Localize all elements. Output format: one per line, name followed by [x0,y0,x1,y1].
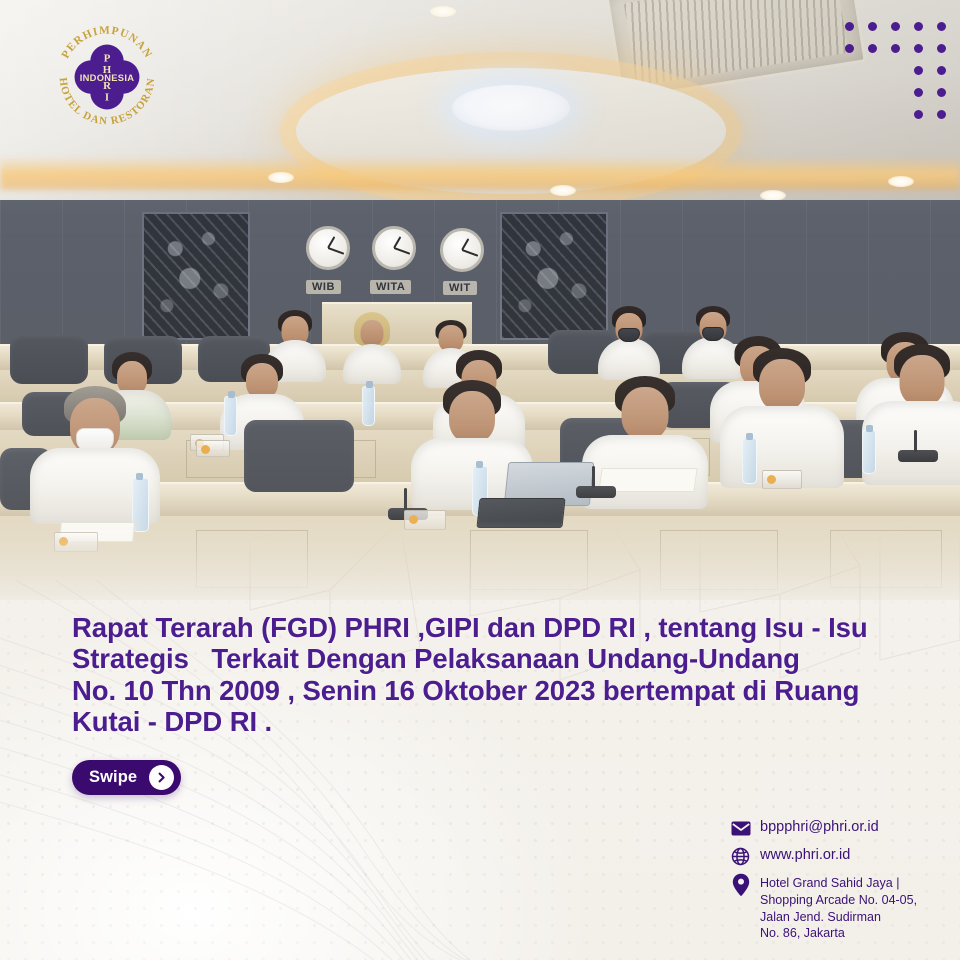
dot-grid-dot [937,110,946,119]
website-text: www.phri.or.id [760,846,850,865]
dot-grid-dot [914,22,923,31]
address-line: Hotel Grand Sahid Jaya | [760,876,899,890]
address-line: Jalan Jend. Sudirman [760,910,881,924]
dot-grid-dot [868,44,877,53]
dot-grid-dot [937,66,946,75]
dot-grid-dot [891,44,900,53]
contact-block: bppphri@phri.or.id www.phri.or.id [730,818,952,949]
headline-line: Kutai - DPD RI . [72,706,902,737]
dot-grid-dot [937,44,946,53]
dot-grid-dot [914,66,923,75]
globe-icon [730,846,751,867]
page-title: Rapat Terarah (FGD) PHRI ,GIPI dan DPD R… [72,612,902,737]
logo-letter-i: I [105,92,109,104]
headline-line: No. 10 Thn 2009 , Senin 16 Oktober 2023 … [72,675,902,706]
dot-grid-dot [868,22,877,31]
headline-line: Rapat Terarah (FGD) PHRI ,GIPI dan DPD R… [72,612,902,643]
dot-grid-dot [937,22,946,31]
contact-address-row: Hotel Grand Sahid Jaya | Shopping Arcade… [730,874,952,942]
email-text: bppphri@phri.or.id [760,818,879,837]
swipe-button[interactable]: Swipe [72,760,181,795]
phri-logo: PERHIMPUNAN HOTEL DAN RESTORAN P H R I I… [48,18,166,136]
logo-center-text: INDONESIA [80,73,134,83]
dot-grid-dot [914,44,923,53]
social-media-card: WIB WITA WIT [0,0,960,960]
email-icon [730,818,751,839]
dot-grid-dot [914,110,923,119]
dot-grid-dot [914,88,923,97]
dot-grid-dot [845,44,854,53]
headline-line: Strategis Terkait Dengan Pelaksanaan Und… [72,643,902,674]
address-line: Shopping Arcade No. 04-05, [760,893,917,907]
address-line: No. 86, Jakarta [760,926,845,940]
location-pin-icon [730,874,751,895]
logo-letter-p: P [104,52,111,64]
address-text: Hotel Grand Sahid Jaya | Shopping Arcade… [760,874,917,942]
contact-email-row[interactable]: bppphri@phri.or.id [730,818,952,839]
contact-website-row[interactable]: www.phri.or.id [730,846,952,867]
dot-grid-dot [891,22,900,31]
dot-grid-dot [937,88,946,97]
chevron-right-icon [149,765,174,790]
dot-grid [845,22,945,112]
dot-grid-dot [845,22,854,31]
swipe-label: Swipe [89,768,137,787]
